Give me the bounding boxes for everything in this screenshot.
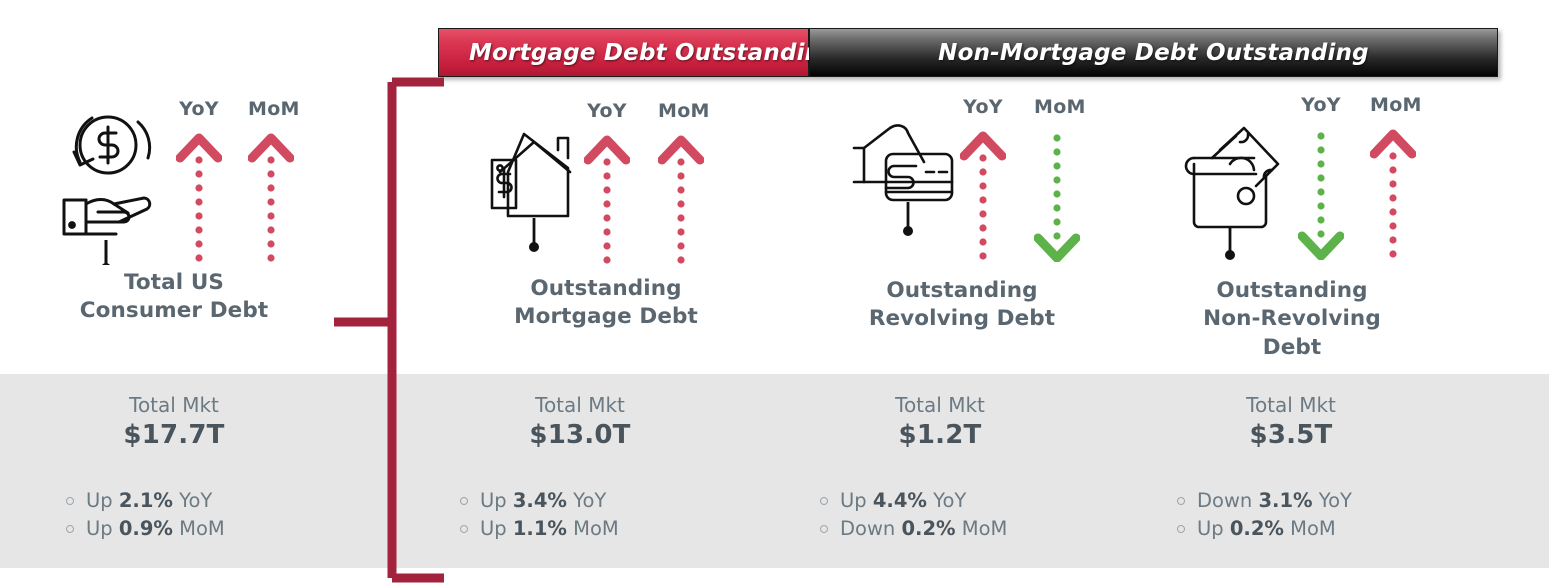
column-label-line3: Debt [1142,334,1442,362]
stat-value: $17.7T [24,418,324,453]
column-outstanding-revolving-debt: YoY MoM [812,88,1112,334]
column-visual: YoY MoM [812,88,1112,263]
bullet-icon [820,525,828,533]
arrow-yoy-shaft [1298,120,1344,260]
stat-dir: Up [86,517,113,540]
bullet-icon [66,525,74,533]
list-item: Up 1.1% MoM [460,515,730,543]
stat-period: MoM [573,517,619,540]
stat-dir: Up [1197,517,1224,540]
stat-list: Up 3.4% YoY Up 1.1% MoM [430,487,730,542]
stat-mkt-label: Total Mkt [430,392,730,418]
list-item: Up 4.4% YoY [820,487,1090,515]
bullet-icon [66,497,74,505]
stat-period: MoM [179,517,225,540]
list-item: Up 0.9% MoM [66,515,324,543]
bullet-icon [1177,497,1185,505]
arrow-yoy-shaft [960,122,1006,262]
stat-pct: 1.1% [513,517,567,540]
column-label-line1: Total US [24,269,324,297]
stat-period: YoY [1319,489,1352,512]
arrow-yoy: YoY [176,98,222,264]
section-tabs: Mortgage Debt Outstanding Non-Mortgage D… [438,28,1498,77]
tab-non-mortgage-label: Non-Mortgage Debt Outstanding [938,40,1369,66]
tab-non-mortgage-debt-outstanding[interactable]: Non-Mortgage Debt Outstanding [809,28,1498,77]
stat-pct: 0.2% [1230,517,1284,540]
stat-period: YoY [933,489,966,512]
list-item: Up 3.4% YoY [460,487,730,515]
stat-period: YoY [573,489,606,512]
stat-pct: 2.1% [119,489,173,512]
bullet-icon [460,525,468,533]
stat-pct: 0.9% [119,517,173,540]
bullet-icon [460,497,468,505]
stat-pct: 4.4% [873,489,927,512]
bullet-icon [820,497,828,505]
stat-dir: Up [86,489,113,512]
tab-mortgage-debt-outstanding[interactable]: Mortgage Debt Outstanding [438,28,809,77]
stat-pct: 3.1% [1258,489,1312,512]
tab-mortgage-label: Mortgage Debt Outstanding [469,40,838,66]
column-label: Total US Consumer Debt [24,269,324,326]
stat-pct: 0.2% [901,517,955,540]
stat-list: Up 4.4% YoY Down 0.2% MoM [790,487,1090,542]
arrow-mom-shaft [658,126,704,266]
column-label-line2: Mortgage Debt [456,303,756,331]
column-label-line1: Outstanding [456,275,756,303]
stat-head: Total Mkt $17.7T [24,392,324,453]
stat-head: Total Mkt $3.5T [1141,392,1441,453]
list-item: Up 0.2% MoM [1177,515,1441,543]
stat-block-outstanding-mortgage-debt: Total Mkt $13.0T Up 3.4% YoY Up 1.1% MoM [430,392,730,542]
bullet-icon [1177,525,1185,533]
stat-period: YoY [179,489,212,512]
arrow-mom-shaft [248,124,294,264]
arrow-mom-caption: MoM [1034,96,1080,118]
stat-mkt-label: Total Mkt [24,392,324,418]
stat-head: Total Mkt $13.0T [430,392,730,453]
arrow-mom: MoM [658,100,704,266]
arrow-yoy: YoY [1298,94,1344,260]
list-item: Down 0.2% MoM [820,515,1090,543]
stat-value: $13.0T [430,418,730,453]
arrow-mom-caption: MoM [248,98,294,120]
hand-holding-credit-card-icon [846,120,966,269]
arrow-yoy-caption: YoY [960,96,1006,118]
stat-period: MoM [962,517,1008,540]
house-with-price-tag-icon [478,116,588,270]
arrow-mom-shaft [1034,122,1080,262]
column-label: Outstanding Revolving Debt [812,277,1112,334]
stat-value: $3.5T [1141,418,1441,453]
stat-block-total-us-consumer-debt: Total Mkt $17.7T Up 2.1% YoY Up 0.9% MoM [24,392,324,542]
column-visual: YoY MoM [24,88,324,263]
list-item: Up 2.1% YoY [66,487,324,515]
column-visual: YoY MoM [456,88,756,263]
stat-dir: Down [840,517,895,540]
stat-dir: Down [1197,489,1252,512]
arrow-yoy: YoY [960,96,1006,262]
arrow-mom-caption: MoM [658,100,704,122]
arrow-yoy: YoY [584,100,630,266]
column-visual: YoY MoM [1142,88,1442,263]
arrow-mom-shaft [1370,120,1416,260]
wallet-with-cash-icon [1182,120,1297,269]
column-label: Outstanding Mortgage Debt [456,275,756,332]
arrow-mom: MoM [248,98,294,264]
column-label-line2: Consumer Debt [24,297,324,325]
stat-list: Up 2.1% YoY Up 0.9% MoM [24,487,324,542]
arrow-mom-caption: MoM [1370,94,1416,116]
stat-list: Down 3.1% YoY Up 0.2% MoM [1141,487,1441,542]
column-label-line1: Outstanding [812,277,1112,305]
column-total-us-consumer-debt: YoY MoM [24,88,324,326]
list-item: Down 3.1% YoY [1177,487,1441,515]
stat-mkt-label: Total Mkt [1141,392,1441,418]
stat-period: MoM [1290,517,1336,540]
stat-block-outstanding-non-revolving-debt: Total Mkt $3.5T Down 3.1% YoY Up 0.2% Mo… [1141,392,1441,542]
column-outstanding-non-revolving-debt: YoY MoM [1142,88,1442,362]
column-label: Outstanding Non-Revolving Debt [1142,277,1442,362]
arrow-mom: MoM [1370,94,1416,260]
arrow-yoy-caption: YoY [176,98,222,120]
infographic-root: Mortgage Debt Outstanding Non-Mortgage D… [0,0,1549,583]
stat-dir: Up [840,489,867,512]
stat-block-outstanding-revolving-debt: Total Mkt $1.2T Up 4.4% YoY Down 0.2% Mo… [790,392,1090,542]
column-label-line1: Outstanding [1142,277,1442,305]
stat-pct: 3.4% [513,489,567,512]
arrow-mom: MoM [1034,96,1080,262]
stat-dir: Up [480,517,507,540]
hand-holding-dollar-coin-icon [50,100,170,269]
arrow-yoy-shaft [176,124,222,264]
stat-head: Total Mkt $1.2T [790,392,1090,453]
stat-dir: Up [480,489,507,512]
stat-value: $1.2T [790,418,1090,453]
column-outstanding-mortgage-debt: YoY MoM [456,88,756,332]
arrow-yoy-caption: YoY [584,100,630,122]
column-label-line2: Revolving Debt [812,305,1112,333]
column-label-line2: Non-Revolving [1142,305,1442,333]
arrow-yoy-caption: YoY [1298,94,1344,116]
arrow-yoy-shaft [584,126,630,266]
stat-mkt-label: Total Mkt [790,392,1090,418]
